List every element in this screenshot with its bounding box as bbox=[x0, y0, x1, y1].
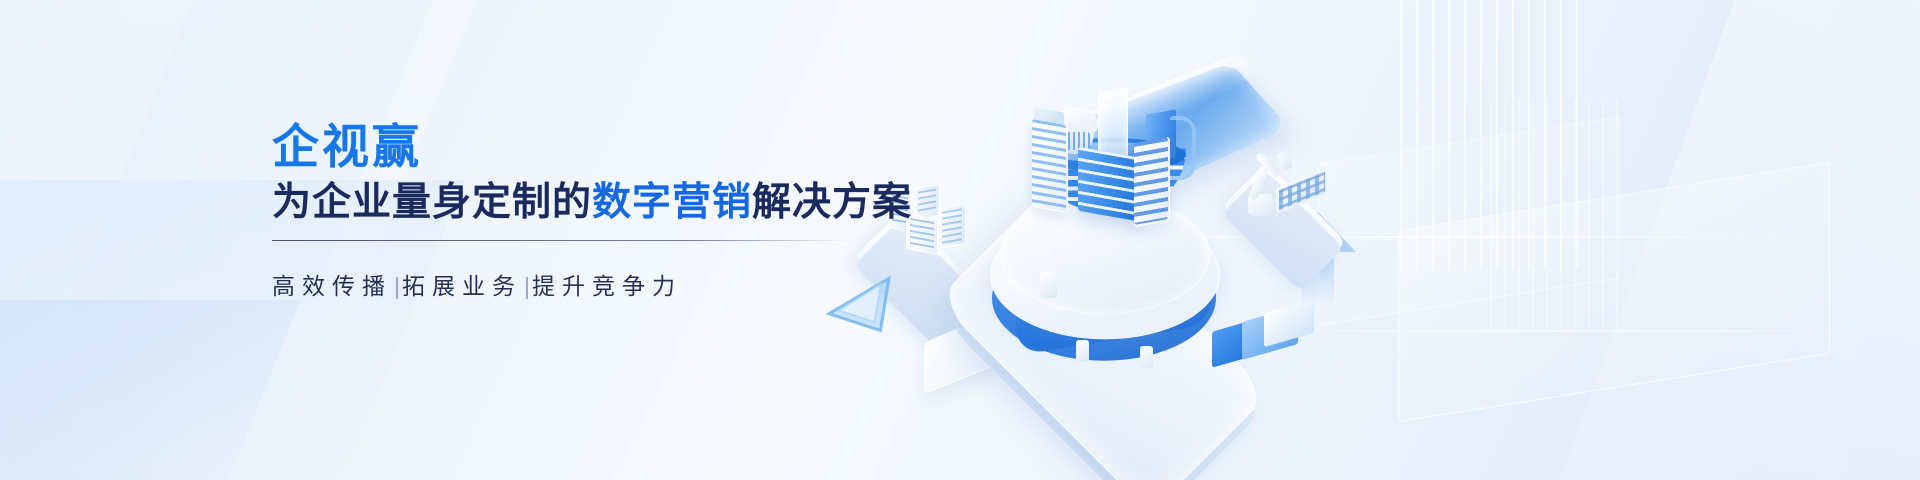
platform-peg-2 bbox=[1076, 340, 1089, 362]
headline: 为企业量身定制的数字营销解决方案 bbox=[272, 181, 992, 225]
right-tower-facade bbox=[1134, 137, 1168, 225]
mid-blue-tower-facade bbox=[1078, 147, 1138, 222]
headline-highlight: 数字营销 bbox=[592, 181, 752, 224]
tagline-separator-1: | bbox=[392, 273, 402, 299]
blue-book-stack bbox=[1212, 306, 1316, 362]
hero-illustration bbox=[840, 0, 1920, 480]
platform-peg-1 bbox=[1040, 272, 1057, 298]
headline-part-1: 为企业量身定制的 bbox=[272, 181, 592, 224]
tagline-item-1: 高效传播 bbox=[272, 273, 392, 299]
robot-arm-head bbox=[1276, 151, 1294, 172]
tagline: 高效传播|拓展业务|提升竞争力 bbox=[272, 267, 992, 301]
hero-banner: 企视赢 为企业量身定制的数字营销解决方案 高效传播|拓展业务|提升竞争力 bbox=[0, 0, 1920, 480]
tagline-separator-2: | bbox=[522, 273, 532, 299]
hook-pipe-icon bbox=[1170, 116, 1196, 180]
tagline-item-3: 提升竞争力 bbox=[532, 273, 682, 299]
city-buildings-group bbox=[1026, 88, 1206, 218]
left-tower-facade bbox=[1032, 119, 1066, 211]
tagline-item-2: 拓展业务 bbox=[402, 273, 522, 299]
book-page-3 bbox=[1264, 299, 1314, 347]
platform-peg-3 bbox=[1140, 346, 1153, 368]
headline-divider bbox=[272, 240, 850, 241]
headline-part-2: 解决方案 bbox=[752, 181, 912, 224]
bg-diagonal-shape-4 bbox=[0, 300, 301, 480]
brand-title: 企视赢 bbox=[272, 122, 992, 173]
banner-copy-block: 企视赢 为企业量身定制的数字营销解决方案 高效传播|拓展业务|提升竞争力 bbox=[272, 122, 992, 301]
